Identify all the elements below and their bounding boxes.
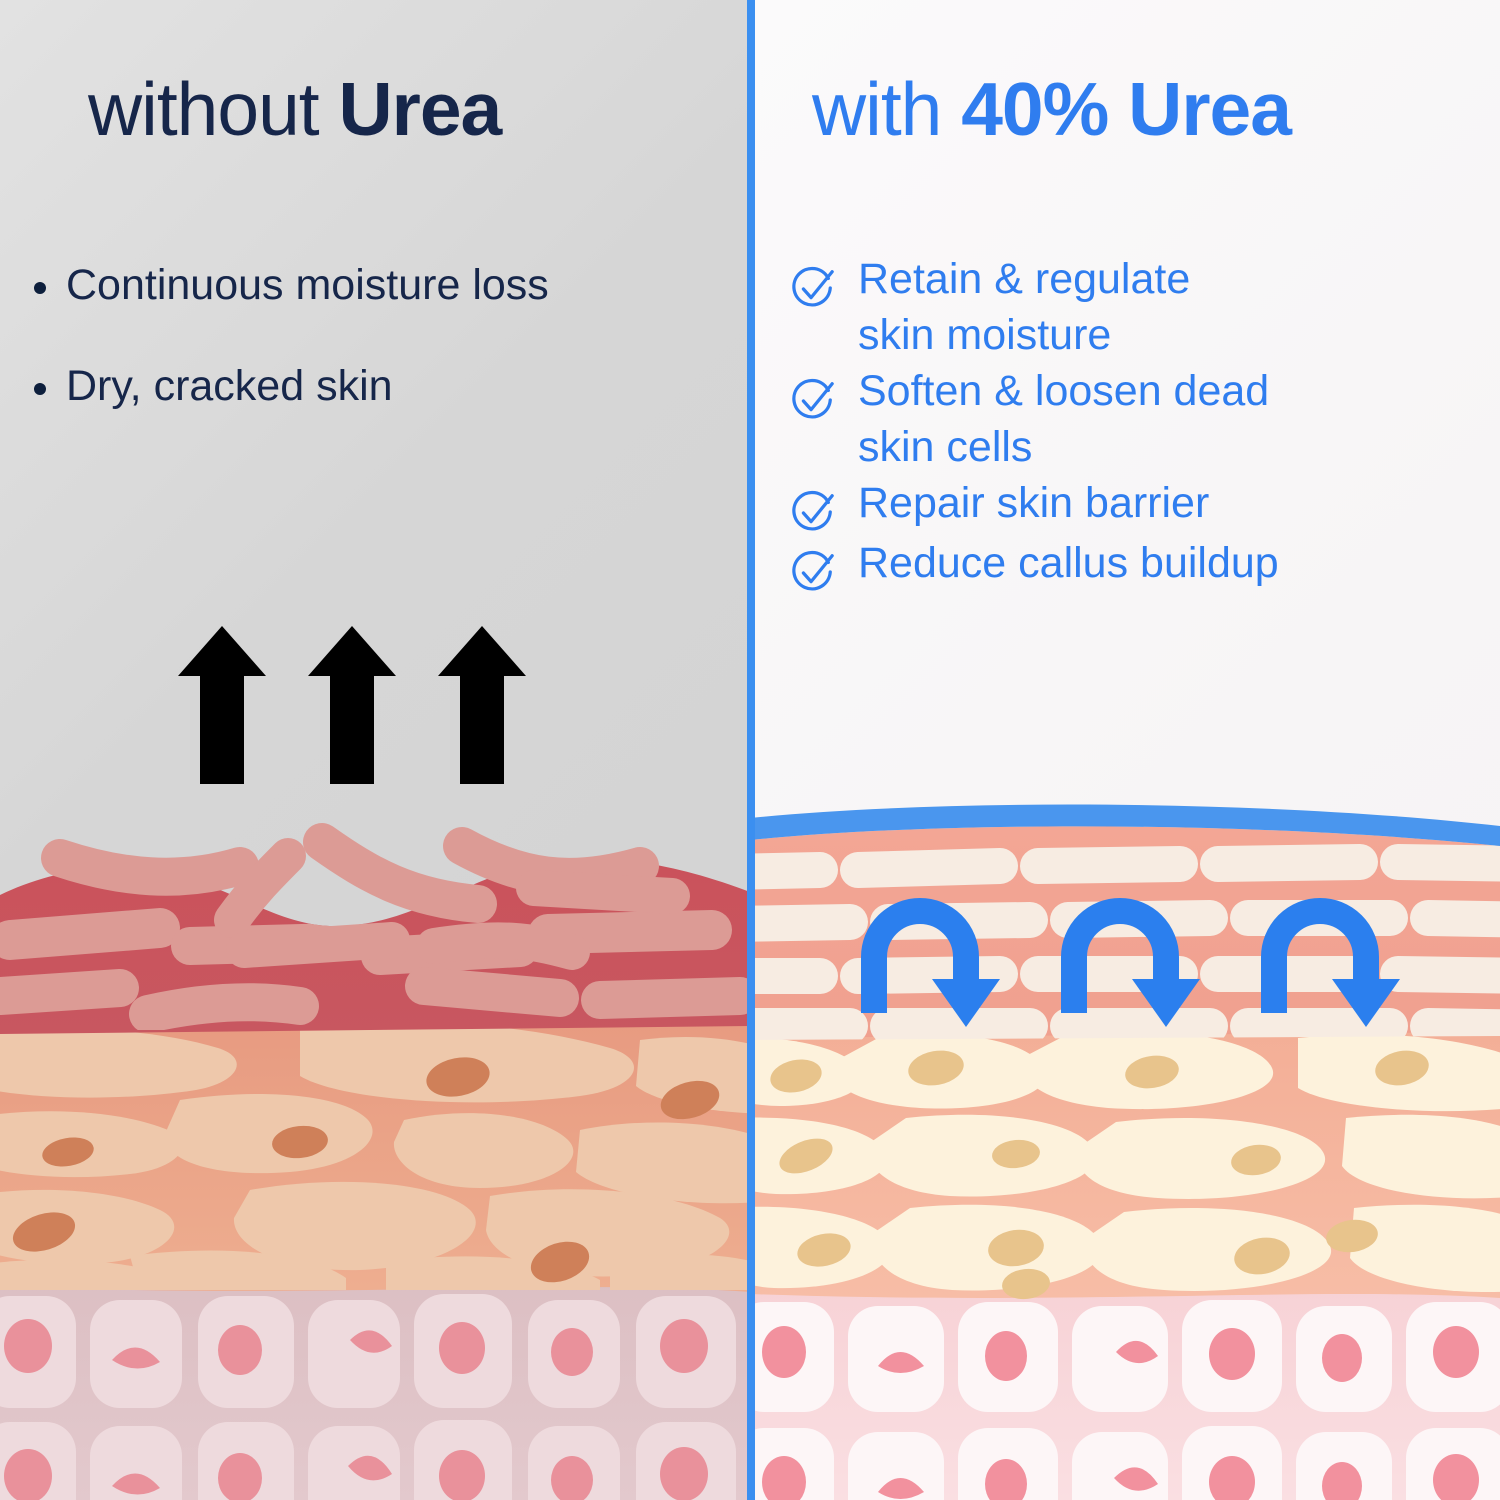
- panel-without-urea: without Urea Continuous moisture loss Dr…: [0, 0, 750, 1500]
- arrow-up-icon: [178, 626, 526, 784]
- panel-with-urea: with 40% Urea Retain & regulate skin moi…: [750, 0, 1500, 1500]
- list-item: Repair skin barrier: [790, 476, 1490, 536]
- bullet-dot-icon: [34, 282, 46, 294]
- benefits-list-left: Continuous moisture loss Dry, cracked sk…: [26, 258, 726, 460]
- list-item-label: Soften & loosen dead skin cells: [858, 364, 1269, 476]
- title-right-light: with: [812, 67, 961, 151]
- layer-epidermis-dry: [0, 1012, 750, 1292]
- check-circle-icon: [790, 490, 836, 536]
- check-circle-icon: [790, 266, 836, 312]
- list-item: Retain & regulate skin moisture: [790, 252, 1490, 364]
- list-item-label: Dry, cracked skin: [66, 359, 393, 414]
- list-item-label: Continuous moisture loss: [66, 258, 549, 313]
- layer-basal-healthy: [750, 1288, 1500, 1500]
- arrowhead: [932, 979, 1400, 1027]
- list-item-label: Repair skin barrier: [858, 476, 1209, 532]
- page-title-right: with 40% Urea: [812, 72, 1291, 147]
- title-right-bold: 40% Urea: [961, 67, 1291, 151]
- panel-divider: [747, 0, 755, 1500]
- list-item-label: Retain & regulate skin moisture: [858, 252, 1190, 364]
- infographic-canvas: without Urea Continuous moisture loss Dr…: [0, 0, 1500, 1500]
- page-title-left: without Urea: [88, 72, 501, 147]
- list-item: Continuous moisture loss: [26, 258, 726, 313]
- skin-cross-section-dry: [0, 800, 750, 1500]
- title-left-bold: Urea: [338, 67, 501, 151]
- list-item: Soften & loosen dead skin cells: [790, 364, 1490, 476]
- moisture-loss-arrows: [170, 620, 550, 805]
- list-item: Dry, cracked skin: [26, 359, 726, 414]
- moisture-retention-arrows: [860, 895, 1420, 1040]
- title-left-light: without: [88, 67, 338, 151]
- check-circle-icon: [790, 378, 836, 424]
- layer-basal-dry: [0, 1280, 750, 1500]
- layer-epidermis-healthy: [750, 1020, 1500, 1301]
- list-item: Reduce callus buildup: [790, 536, 1490, 596]
- check-circle-icon: [790, 550, 836, 596]
- list-item-label: Reduce callus buildup: [858, 536, 1279, 592]
- bullet-dot-icon: [34, 383, 46, 395]
- benefits-list-right: Retain & regulate skin moisture Soften &…: [790, 252, 1490, 596]
